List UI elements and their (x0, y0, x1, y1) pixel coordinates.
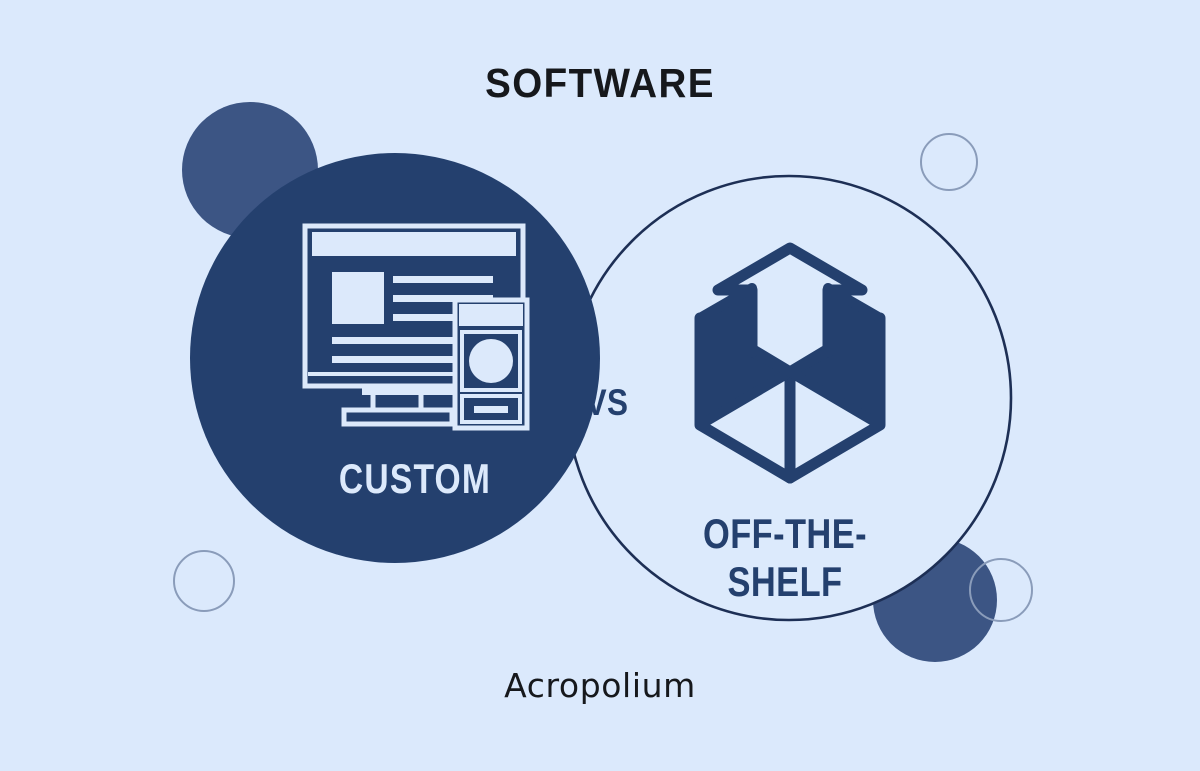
monitor-footer-line (362, 388, 457, 395)
off-the-shelf-label: OFF-THE-SHELF (650, 510, 921, 606)
monitor-header-bar (312, 232, 516, 256)
tablet-avatar-circle (469, 339, 513, 383)
custom-label: CUSTOM (279, 455, 551, 503)
monitor-text-line (332, 356, 462, 363)
tablet-footer-line (474, 406, 508, 413)
page-title: SOFTWARE (36, 60, 1164, 107)
brand-logo: Acropolium (0, 666, 1200, 705)
monitor-text-line (393, 276, 493, 283)
vs-label: VS (569, 382, 646, 424)
infographic-canvas: SOFTWARE CUSTOM VS OFF-THE-SHELF Acropol… (0, 0, 1200, 771)
monitor-image-placeholder (332, 272, 384, 324)
tablet-header-bar (459, 304, 523, 326)
